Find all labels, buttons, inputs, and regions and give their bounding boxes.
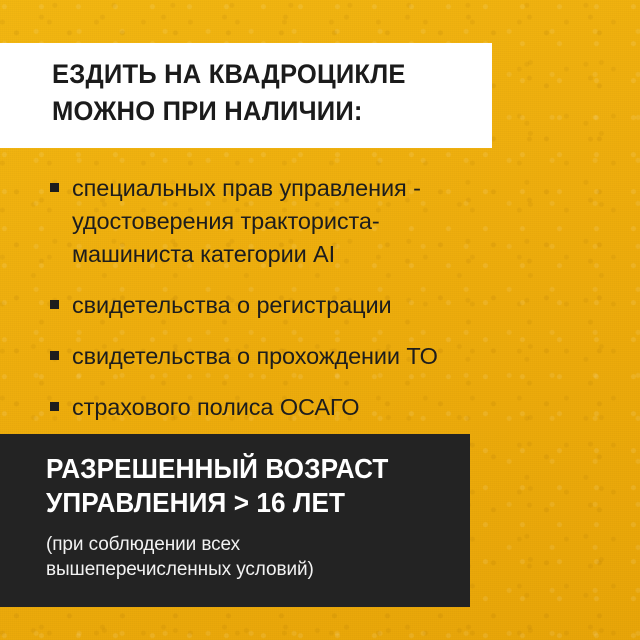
header-title-line-2: МОЖНО ПРИ НАЛИЧИИ: (52, 93, 477, 130)
list-item-label: специальных прав управления - удостовере… (72, 172, 610, 271)
age-headline-line-2: УПРАВЛЕНИЯ > 16 ЛЕТ (46, 486, 449, 520)
age-requirement-block: РАЗРЕШЕННЫЙ ВОЗРАСТ УПРАВЛЕНИЯ > 16 ЛЕТ … (0, 434, 470, 607)
age-condition-note: (при соблюдении всех вышеперечисленных у… (46, 532, 470, 582)
list-item: свидетельства о регистрации (50, 289, 610, 322)
requirements-list: специальных прав управления - удостовере… (50, 172, 610, 424)
list-item-label: страхового полиса ОСАГО (72, 391, 610, 424)
list-item: свидетельства о прохождении ТО (50, 340, 610, 373)
square-bullet-icon (50, 300, 59, 309)
square-bullet-icon (50, 351, 59, 360)
square-bullet-icon (50, 402, 59, 411)
list-item: страхового полиса ОСАГО (50, 391, 610, 424)
header-band: ЕЗДИТЬ НА КВАДРОЦИКЛЕ МОЖНО ПРИ НАЛИЧИИ: (0, 43, 492, 148)
square-bullet-icon (50, 183, 59, 192)
list-item-label: свидетельства о регистрации (72, 289, 610, 322)
infographic-poster: ЕЗДИТЬ НА КВАДРОЦИКЛЕ МОЖНО ПРИ НАЛИЧИИ:… (0, 0, 640, 640)
list-item-label: свидетельства о прохождении ТО (72, 340, 610, 373)
header-title-line-1: ЕЗДИТЬ НА КВАДРОЦИКЛЕ (52, 56, 477, 93)
age-headline-line-1: РАЗРЕШЕННЫЙ ВОЗРАСТ (46, 452, 449, 486)
list-item: специальных прав управления - удостовере… (50, 172, 610, 271)
